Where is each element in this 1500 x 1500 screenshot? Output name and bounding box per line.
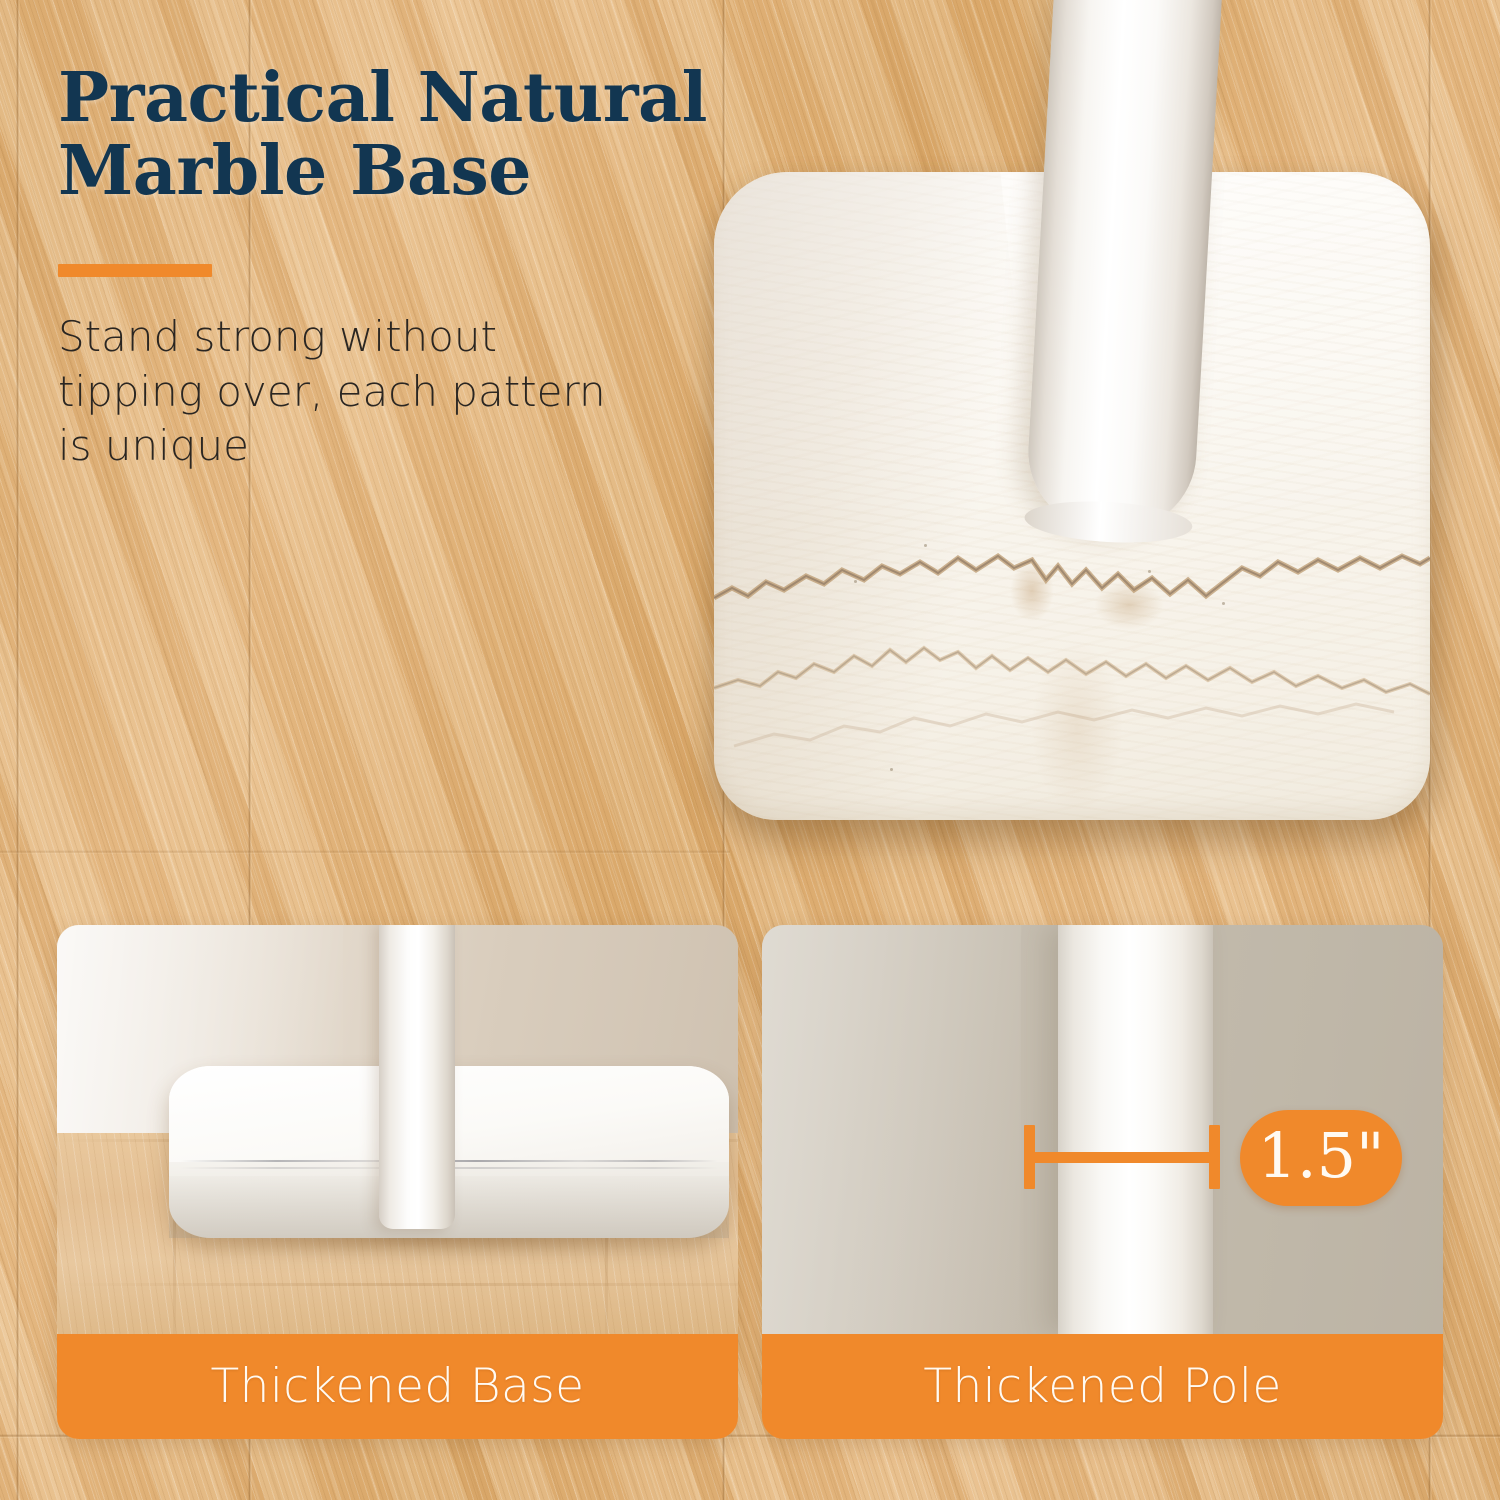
panel-thickened-pole-photo: 1.5": [762, 925, 1443, 1334]
marble-speck: [854, 580, 857, 583]
dimension-bar: [1024, 1152, 1220, 1163]
subtitle-line-2: tipping over, each pattern: [58, 365, 678, 420]
dimension-indicator: [1024, 1125, 1220, 1189]
panel-caption-banner-pole: Thickened Pole: [762, 1334, 1443, 1439]
pole-closeup: [379, 925, 455, 1229]
dimension-cap-left: [1024, 1125, 1035, 1189]
studio-background-highlight: [762, 925, 1021, 1334]
panel-caption-pole: Thickened Pole: [923, 1359, 1281, 1414]
subtitle-line-1: Stand strong without: [58, 310, 678, 365]
floor-seam-horizontal: [0, 850, 730, 854]
panel-thickened-base: Thickened Base: [57, 925, 738, 1439]
headline-line-2: Marble Base: [58, 135, 878, 208]
product-feature-image: Practical Natural Marble Base Stand stro…: [0, 0, 1500, 1500]
marble-speck: [890, 768, 893, 771]
panel-thickened-base-photo: [57, 925, 738, 1334]
pole-hero: [1024, 0, 1222, 535]
panel-thickened-pole: 1.5" Thickened Pole: [762, 925, 1443, 1439]
panel-caption-base: Thickened Base: [211, 1359, 585, 1414]
marble-blotch: [1010, 560, 1054, 622]
marble-speck: [924, 544, 927, 547]
panel-caption-banner-base: Thickened Base: [57, 1334, 738, 1439]
measurement-value: 1.5": [1257, 1125, 1384, 1191]
accent-rule: [58, 264, 212, 277]
marble-blotch: [1032, 642, 1122, 812]
subtitle-line-3: is unique: [58, 419, 678, 474]
floor-seam-vertical: [16, 0, 20, 1500]
headline-line-1: Practical Natural: [58, 58, 707, 138]
marble-speck: [1222, 602, 1225, 605]
marble-blotch: [1094, 580, 1164, 630]
marble-speck: [1148, 570, 1151, 573]
page-title: Practical Natural Marble Base: [58, 62, 878, 209]
measurement-badge: 1.5": [1240, 1110, 1402, 1206]
page-subtitle: Stand strong without tipping over, each …: [58, 310, 678, 474]
dimension-cap-right: [1209, 1125, 1220, 1189]
floor-seam: [57, 1283, 738, 1286]
